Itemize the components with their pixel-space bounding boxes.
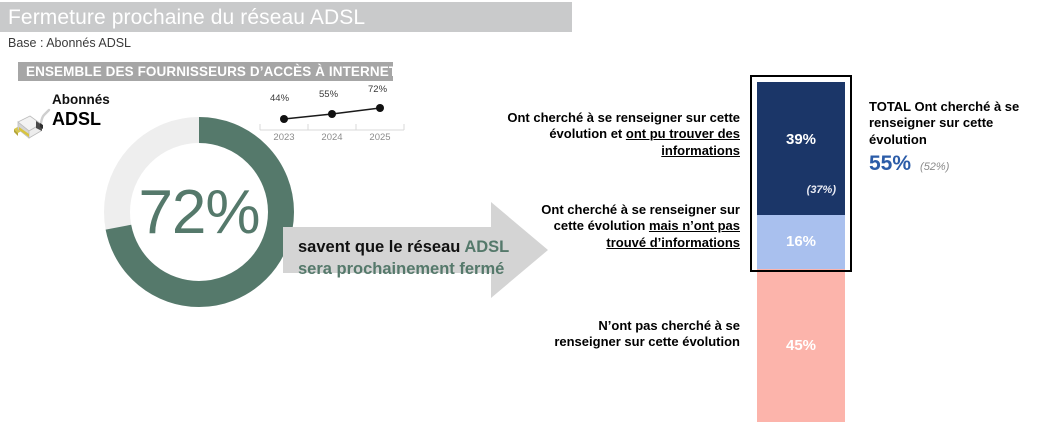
arrow-text-adsl: ADSL: [464, 238, 509, 256]
arrow-text-closing: sera prochainement fermé: [298, 260, 504, 278]
bar-segment-found-value: 39%: [757, 131, 845, 148]
bar-segment-no-search-value: 45%: [786, 337, 816, 354]
total-annotation: TOTAL Ont cherché à se renseigner sur ce…: [869, 99, 1044, 176]
callout-found-info: Ont cherché à se renseigner sur cette év…: [470, 110, 740, 159]
callout-found-underlined: ont pu trouver des informations: [626, 126, 740, 157]
audience-label-line2: ADSL: [52, 110, 101, 128]
bar-segment-no-search: 45%: [757, 269, 845, 422]
bar-segment-found: 39% (37%): [757, 82, 845, 215]
total-previous-value: (52%): [920, 161, 949, 173]
arrow-banner-text: savent que le réseau ADSL sera prochaine…: [298, 237, 543, 281]
callout-no-search: N’ont pas cherché à se renseigner sur ce…: [550, 318, 740, 351]
base-note: Base : Abonnés ADSL: [8, 36, 131, 50]
callout-not-found-info: Ont cherché à se renseigner sur cette év…: [520, 202, 740, 251]
section-band: ENSEMBLE DES FOURNISSEURS D’ACCÈS À INTE…: [18, 62, 393, 81]
title-banner: Fermeture prochaine du réseau ADSL: [0, 2, 572, 32]
stacked-bar-chart: 39% (37%) 16% 45%: [757, 82, 845, 422]
section-band-label: ENSEMBLE DES FOURNISSEURS D’ACCÈS À INTE…: [26, 64, 397, 79]
audience-label-line1: Abonnés: [52, 93, 110, 107]
bar-segment-not-found: 16%: [757, 215, 845, 269]
trend-tick-2023: 2023: [264, 132, 304, 143]
total-value: 55%: [869, 152, 911, 176]
trend-tick-2024: 2024: [312, 132, 352, 143]
total-value-row: 55% (52%): [869, 152, 1044, 176]
trend-value-2024: 55%: [319, 89, 338, 100]
bar-segment-not-found-value: 16%: [786, 233, 816, 250]
bar-segment-found-previous: (37%): [807, 184, 836, 196]
arrow-text-plain: savent que le réseau: [298, 238, 464, 256]
trend-tick-2025: 2025: [360, 132, 400, 143]
page-title: Fermeture prochaine du réseau ADSL: [8, 6, 365, 30]
total-label: TOTAL Ont cherché à se renseigner sur ce…: [869, 99, 1044, 148]
trend-value-2023: 44%: [270, 93, 289, 104]
trend-line-chart: 44% 55% 72% 2023 2024 2025: [258, 88, 406, 148]
trend-value-2025: 72%: [368, 84, 387, 95]
